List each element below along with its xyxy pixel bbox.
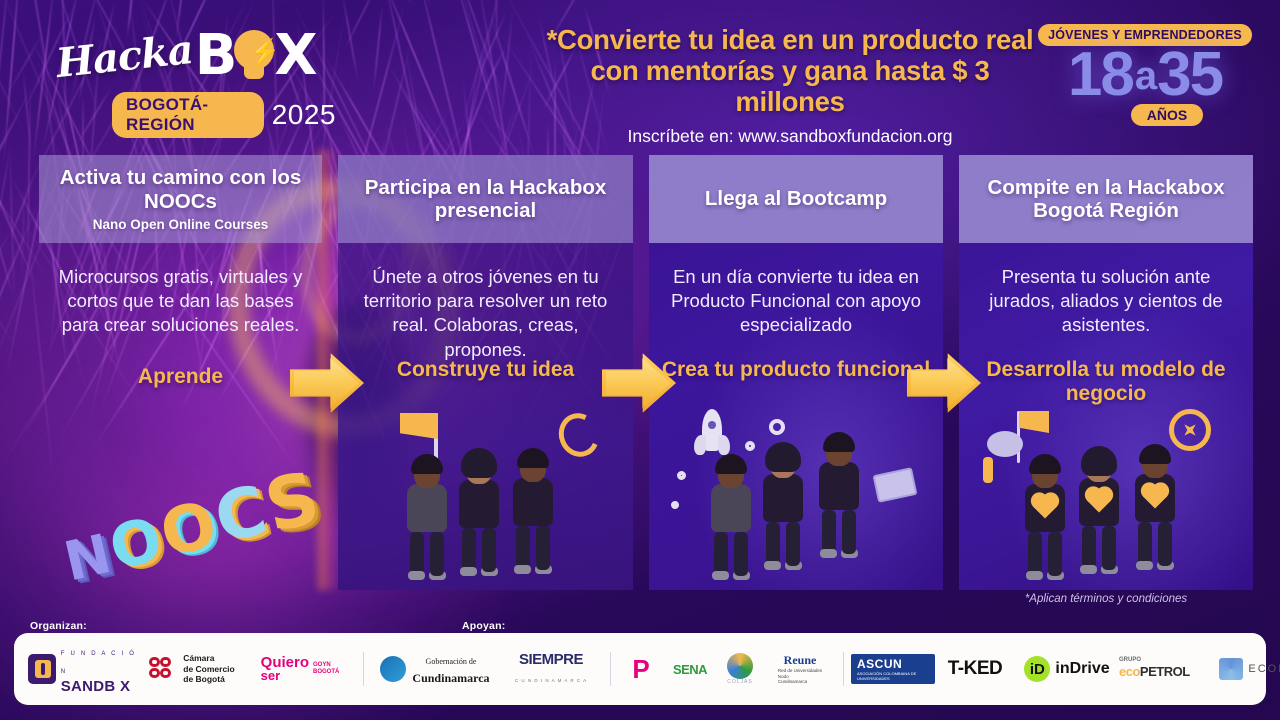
step-card-2-header: Participa en la Hackabox presencial	[338, 155, 633, 243]
age-to: 35	[1157, 40, 1222, 109]
sandbox-cube-icon	[28, 654, 56, 684]
coljas-circle-icon	[727, 653, 753, 679]
logo-grupo-ecopetrol: GRUPO ecoPETROL	[1119, 646, 1209, 692]
logo-subrow: BOGOTÁ-REGIÓN 2025	[112, 92, 336, 138]
right-arrow-icon-1	[290, 352, 364, 414]
logo-coljas: COLJAS	[716, 646, 764, 692]
youths-group-icon	[701, 420, 891, 580]
step-card-1-illustration: NOOCS	[39, 405, 322, 590]
tked-name: T-KED	[948, 658, 1003, 680]
headline-subtitle: Inscríbete en: www.sandboxfundacion.org	[545, 126, 1035, 147]
step-card-4[interactable]: Compite en la Hackabox Bogotá Región Pre…	[959, 155, 1253, 590]
person-1	[1025, 459, 1065, 580]
step-card-1-cta: Aprende	[39, 365, 322, 389]
age-range: 18a35	[1037, 44, 1253, 106]
gear-icon-tiny	[671, 501, 679, 509]
terms-disclaimer: *Aplican términos y condiciones	[959, 593, 1253, 605]
logo-region-pill: BOGOTÁ-REGIÓN	[112, 92, 264, 138]
logo-hacka-text: Hacka	[54, 25, 195, 86]
sponsor-logo-bar: F U N D A C I Ó N SANDB X Cámarade Comer…	[14, 633, 1266, 705]
logo-gobernacion-cundinamarca: Gobernación de Cundinamarca	[371, 646, 499, 692]
step-card-1-header: Activa tu camino con los NOOCs Nano Open…	[39, 155, 322, 243]
logo-siempre-cundinamarca: SIEMPRE C U N D I N A M A R C A	[499, 646, 603, 692]
logo-divider	[610, 652, 611, 686]
torch-icon	[983, 457, 993, 483]
coljas-sub: COLJAS	[727, 679, 752, 685]
noocs-3d-word-icon: NOOCS	[45, 414, 325, 589]
gobernacion-name: Cundinamarca	[412, 671, 489, 685]
step-card-2-cta: Construye tu idea	[338, 358, 633, 382]
gobernacion-top: Gobernación de	[426, 657, 477, 666]
logo-divider	[363, 652, 364, 686]
step-card-2-title: Participa en la Hackabox presencial	[348, 176, 623, 222]
econova-name: ECONOVA	[1248, 663, 1280, 675]
step-card-2-description: Únete a otros jóvenes en tu territorio p…	[338, 265, 633, 362]
quiero-name: Quieroser	[261, 656, 309, 683]
logo-year: 2025	[272, 99, 336, 131]
indrive-icon: iD	[1024, 656, 1050, 682]
step-card-1-subtitle: Nano Open Online Courses	[93, 217, 269, 232]
person-3	[819, 437, 859, 558]
ascun-name: ASCUNASOCIACIÓN COLOMBIANA DE UNIVERSIDA…	[851, 654, 935, 684]
logo-indrive: iD inDrive	[1015, 646, 1119, 692]
youths-group-icon	[391, 420, 581, 580]
person-1	[711, 459, 751, 580]
apoyan-label: Apoyan:	[462, 620, 505, 632]
logo-tked: T-KED	[935, 646, 1015, 692]
person-2	[1079, 453, 1119, 574]
step-card-3-title: Llega al Bootcamp	[705, 187, 887, 210]
person-3	[1135, 449, 1175, 570]
person-3	[513, 453, 553, 574]
indrive-name: inDrive	[1055, 660, 1109, 678]
ecopetrol-petrol: PETROL	[1140, 664, 1190, 679]
age-from: 18	[1068, 40, 1133, 109]
step-card-2-illustration	[338, 405, 633, 590]
person-2	[459, 455, 499, 576]
reune-name: Reune	[784, 653, 817, 668]
age-connector: a	[1135, 54, 1155, 98]
siempre-sub: C U N D I N A M A R C A	[515, 678, 587, 683]
logo-pink-p: P	[618, 646, 664, 692]
step-card-3-description: En un día convierte tu idea en Producto …	[649, 265, 943, 338]
logo-econova: ECONOVA	[1209, 646, 1280, 692]
right-arrow-icon-3	[907, 352, 981, 414]
logo-quiero-ser-agil: Quieroser GOYNBOGOTÁ	[244, 646, 356, 692]
logo-camara-comercio-bogota: Cámarade Comerciode Bogotá	[140, 646, 244, 692]
step-card-3[interactable]: Llega al Bootcamp En un día convierte tu…	[649, 155, 943, 590]
person-1	[407, 459, 447, 580]
pink-p-icon: P	[632, 654, 649, 685]
siempre-name: SIEMPRE	[519, 651, 583, 668]
youths-group-icon	[1011, 420, 1201, 580]
sandbox-name: SANDB X	[61, 678, 131, 695]
step-card-1-description: Microcursos gratis, virtuales y cortos q…	[39, 265, 322, 338]
organizan-label: Organizan:	[30, 620, 87, 632]
step-card-1[interactable]: Activa tu camino con los NOOCs Nano Open…	[39, 155, 322, 590]
age-badge-bottom-pill: AÑOS	[1131, 104, 1203, 126]
step-card-4-illustration	[959, 405, 1253, 590]
step-card-3-cta: Crea tu producto funcional	[649, 358, 943, 382]
lightbulb-bolt-icon: ⚡	[231, 30, 277, 82]
step-card-3-illustration	[649, 405, 943, 590]
step-card-2[interactable]: Participa en la Hackabox presencial Únet…	[338, 155, 633, 590]
gobernacion-seal-icon	[380, 656, 406, 682]
logo-ascun: ASCUNASOCIACIÓN COLOMBIANA DE UNIVERSIDA…	[851, 646, 935, 692]
person-2	[763, 449, 803, 570]
ccb-name: Cámarade Comerciode Bogotá	[183, 653, 235, 685]
step-card-1-title: Activa tu camino con los NOOCs	[49, 166, 312, 212]
logo-letter-b: B	[195, 28, 235, 84]
ccb-mark-icon	[149, 657, 177, 681]
econova-mark-icon	[1219, 658, 1243, 680]
step-card-3-header: Llega al Bootcamp	[649, 155, 943, 243]
step-card-4-title: Compite en la Hackabox Bogotá Región	[969, 176, 1243, 222]
hackabox-logo: Hacka B ⚡ X BOGOTÁ-REGIÓN 2025	[56, 24, 336, 138]
step-card-4-description: Presenta tu solución ante jurados, aliad…	[959, 265, 1253, 338]
right-arrow-icon-2	[602, 352, 676, 414]
logo-wordmark: Hacka B ⚡ X	[56, 24, 336, 88]
logo-sena: SENA	[664, 646, 716, 692]
age-badge: JÓVENES Y EMPRENDEDORES 18a35 AÑOS	[1037, 24, 1253, 126]
ecopetrol-eco: eco	[1119, 664, 1140, 679]
step-card-4-header: Compite en la Hackabox Bogotá Región	[959, 155, 1253, 243]
reune-sub: Red de UniversidadesNodoCundinamarca	[778, 668, 822, 686]
headline-block: *Convierte tu idea en un producto real c…	[545, 24, 1035, 147]
logo-fundacion-sandbox: F U N D A C I Ó N SANDB X	[28, 646, 140, 692]
quiero-goyn: GOYNBOGOTÁ	[313, 662, 339, 676]
sandbox-kicker: F U N D A C I Ó N	[61, 651, 136, 675]
headline-title: *Convierte tu idea en un producto real c…	[545, 24, 1035, 117]
logo-divider	[843, 652, 844, 686]
gear-icon-small	[677, 471, 686, 480]
sena-name: SENA	[673, 662, 707, 677]
logo-reune: Reune Red de UniversidadesNodoCundinamar…	[764, 646, 836, 692]
step-card-4-cta: Desarrolla tu modelo de negocio	[959, 358, 1253, 405]
